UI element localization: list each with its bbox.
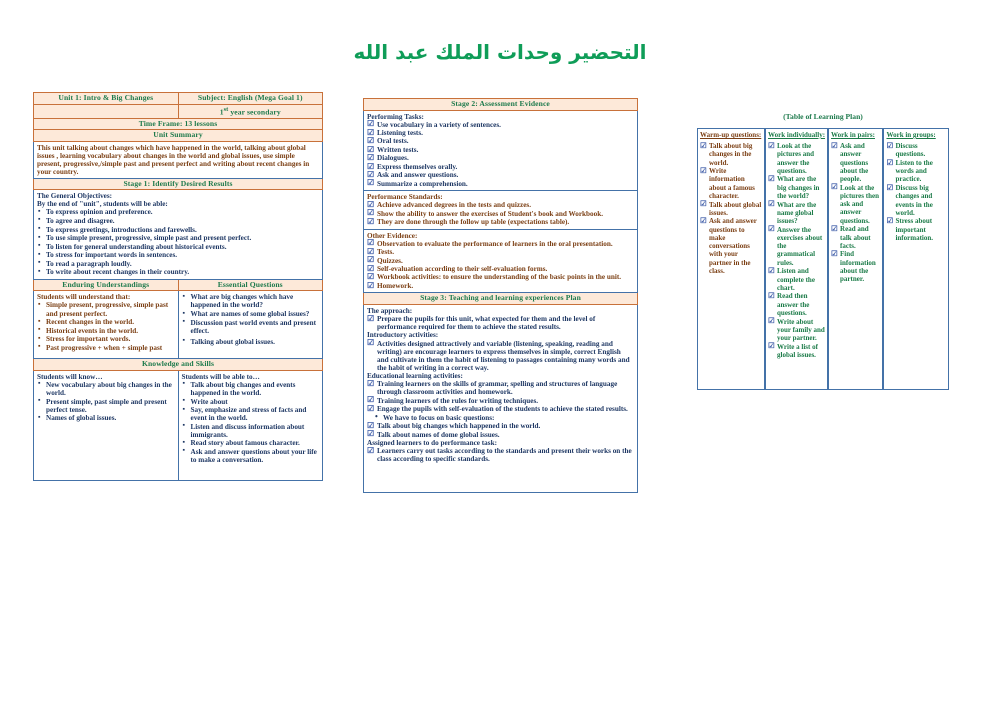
cell-unit-summary-text: This unit talking about changes which ha… [34, 141, 323, 178]
cell-knowledge-header: Knowledge and Skills [34, 359, 323, 371]
edu-list: Training learners on the skills of gramm… [367, 380, 634, 413]
able-list: Talk about big changes and events happen… [182, 381, 320, 464]
unit-plan-table: Unit 1: Intro & Big Changes Subject: Eng… [33, 92, 323, 481]
table-row: Students will understand that: Simple pr… [34, 291, 323, 359]
list-item: Present simple, past simple and present … [37, 398, 175, 414]
document-page: التحضير وحدات الملك عبد الله Unit 1: Int… [0, 0, 1000, 707]
list-item: Prepare the pupils for this unit, what e… [367, 315, 634, 331]
list-item: Discuss questions. [886, 142, 946, 159]
col-body-individual: Look at the pictures and answer the ques… [765, 140, 828, 390]
page-title: التحضير وحدات الملك عبد الله [0, 40, 1000, 64]
list-item: Read then answer the questions. [768, 292, 825, 317]
edu-sub-list: We have to focus on basic questions: [367, 414, 634, 422]
list-item: Stress about important information. [886, 217, 946, 242]
enduring-lead: Students will understand that: [37, 293, 175, 301]
table-header-row: Warm-up questions: Work individually: Wo… [697, 128, 949, 140]
approach-list: Prepare the pupils for this unit, what e… [367, 315, 634, 331]
list-item: Find information about the partner. [831, 250, 880, 283]
assessment-plan-table: Stage 2: Assessment Evidence Performing … [363, 98, 638, 493]
list-item: Quizzes. [367, 257, 634, 265]
list-item: Write about your family and your partner… [768, 318, 825, 343]
list-item: Names of global issues. [37, 414, 175, 422]
intro-list: Activities designed attractively and var… [367, 340, 634, 372]
list-item: What are the name global issues? [768, 201, 825, 226]
cell-time-frame: Time Frame: 13 lessons [34, 118, 323, 130]
intro-lead: Introductory activities: [367, 331, 634, 339]
warmup-list: Talk about big changes in the world. Wri… [700, 142, 762, 275]
performing-list: Use vocabulary in a variety of sentences… [367, 121, 634, 188]
list-item: Show the ability to answer the exercises… [367, 210, 634, 218]
learning-col-label: Warm-up questions: [700, 131, 761, 139]
cell-blank [34, 104, 179, 118]
cell-stage2-header: Stage 2: Assessment Evidence [364, 99, 638, 111]
individual-list: Look at the pictures and answer the ques… [768, 142, 825, 359]
list-item: To express greetings, introductions and … [37, 226, 319, 234]
objectives-subtitle: By the end of "unit", students will be a… [37, 200, 319, 208]
know-list: New vocabulary about big changes in the … [37, 381, 175, 422]
list-item: Discussion past world events and present… [182, 319, 320, 335]
list-item: What are the big changes in the world? [768, 175, 825, 200]
list-item: Write information about a famous charact… [700, 167, 762, 200]
list-item: Listen and complete the chart. [768, 267, 825, 292]
list-item: Engage the pupils with self-evaluation o… [367, 405, 634, 413]
list-item: Achieve advanced degrees in the tests an… [367, 201, 634, 209]
list-item: Activities designed attractively and var… [367, 340, 634, 372]
list-item: Oral tests. [367, 137, 634, 145]
know-lead: Students will know… [37, 373, 175, 381]
list-item: Read and talk about facts. [831, 225, 880, 250]
col-body-warmup: Talk about big changes in the world. Wri… [697, 140, 765, 390]
col-body-groups: Discuss questions. Listen to the words a… [883, 140, 949, 390]
able-lead: Students will be able to… [182, 373, 320, 381]
edu-tail-list: Talk about big changes which happened in… [367, 422, 634, 439]
list-item: Learners carry out tasks according to th… [367, 447, 634, 463]
other-list: Observation to evaluate the performance … [367, 240, 634, 290]
enduring-list: Simple present, progressive, simple past… [37, 301, 175, 351]
cell-performing-tasks: Performing Tasks: Use vocabulary in a va… [364, 110, 638, 191]
learning-col-label: Work in pairs: [831, 131, 875, 139]
list-item: To read a paragraph loudly. [37, 260, 319, 268]
list-item: Self-evaluation according to their self-… [367, 265, 634, 273]
cell-stage3-header: Stage 3: Teaching and learning experienc… [364, 293, 638, 305]
objectives-list: To express opinion and preference. To ag… [37, 208, 319, 276]
list-item: Talk about big changes in the world. [700, 142, 762, 167]
list-item: Listen to the words and practice. [886, 159, 946, 184]
table-row: The approach: Prepare the pupils for thi… [364, 304, 638, 492]
cell-objectives: The General Objectives: By the end of "u… [34, 190, 323, 280]
cell-able-body: Students will be able to… Talk about big… [178, 370, 323, 480]
cell-performance-standards: Performance Standards: Achieve advanced … [364, 191, 638, 229]
list-item: To express opinion and preference. [37, 208, 319, 216]
list-item: Answer the exercises about the grammatic… [768, 226, 825, 267]
cell-teaching-plan: The approach: Prepare the pupils for thi… [364, 304, 638, 492]
cell-enduring-header: Enduring Understandings [34, 279, 179, 291]
list-item: Tests. [367, 248, 634, 256]
list-item: Use vocabulary in a variety of sentences… [367, 121, 634, 129]
learning-plan-section: (Table of Learning Plan) Warm-up questio… [697, 112, 949, 390]
table-row: Unit Summary [34, 130, 323, 142]
list-item: Express themselves orally. [367, 163, 634, 171]
cell-year: 1st year secondary [178, 104, 323, 118]
list-item: Training learners of the rules for writi… [367, 397, 634, 405]
list-item: Stress for important words. [37, 335, 175, 343]
table-row: Stage 2: Assessment Evidence [364, 99, 638, 111]
table-row: Other Evidence: Observation to evaluate … [364, 229, 638, 293]
list-item: Written tests. [367, 146, 634, 154]
learning-plan-table: Warm-up questions: Work individually: Wo… [697, 128, 949, 390]
list-item: Write a list of global issues. [768, 343, 825, 360]
other-lead: Other Evidence: [367, 232, 634, 240]
col-header-pairs: Work in pairs: [828, 128, 883, 140]
col-header-individual: Work individually: [765, 128, 828, 140]
list-item: Training learners on the skills of gramm… [367, 380, 634, 396]
list-item: Read story about famous character. [182, 439, 320, 447]
cell-other-evidence: Other Evidence: Observation to evaluate … [364, 229, 638, 293]
list-item: Talk about big changes and events happen… [182, 381, 320, 397]
list-item: Talking about global issues. [182, 338, 320, 346]
list-item: Listen and discuss information about imm… [182, 423, 320, 439]
cell-subject: Subject: English (Mega Goal 1) [178, 93, 323, 105]
list-item: To listen for general understanding abou… [37, 243, 319, 251]
list-item: What are names of some global issues? [182, 310, 320, 318]
list-item: Summarize a comprehension. [367, 180, 634, 188]
list-item: Talk about names of dome global issues. [367, 431, 634, 439]
list-item: Listening tests. [367, 129, 634, 137]
list-item: Past progressive + when + simple past [37, 344, 175, 352]
table-row: Stage 1: Identify Desired Results [34, 178, 323, 190]
list-item: Dialogues. [367, 154, 634, 162]
list-item: Talk about global issues. [700, 201, 762, 218]
list-item: We have to focus on basic questions: [367, 414, 634, 422]
standards-list: Achieve advanced degrees in the tests an… [367, 201, 634, 226]
standards-lead: Performance Standards: [367, 193, 634, 201]
list-item: Ask and answer questions. [367, 171, 634, 179]
cell-know-body: Students will know… New vocabulary about… [34, 370, 179, 480]
list-item: New vocabulary about big changes in the … [37, 381, 175, 397]
list-item: Simple present, progressive, simple past… [37, 301, 175, 317]
table-row: Time Frame: 13 lessons [34, 118, 323, 130]
performing-lead: Performing Tasks: [367, 113, 634, 121]
list-item: Workbook activities: to ensure the under… [367, 273, 634, 281]
list-item: Recent changes in the world. [37, 318, 175, 326]
list-item: Homework. [367, 282, 634, 290]
list-item: To stress for important words in sentenc… [37, 251, 319, 259]
list-item: They are done through the follow up tabl… [367, 218, 634, 226]
list-item: Discuss big changes and events in the wo… [886, 184, 946, 217]
objectives-title: The General Objectives: [37, 192, 319, 200]
approach-lead: The approach: [367, 307, 634, 315]
list-item: Look at the pictures and answer the ques… [768, 142, 825, 175]
assigned-list: Learners carry out tasks according to th… [367, 447, 634, 463]
pairs-list: Ask and answer questions about the peopl… [831, 142, 880, 283]
learning-col-label: Work individually: [768, 131, 825, 139]
list-item: Talk about big changes which happened in… [367, 422, 634, 430]
table-row: This unit talking about changes which ha… [34, 141, 323, 178]
col-header-warmup: Warm-up questions: [697, 128, 765, 140]
col-body-pairs: Ask and answer questions about the peopl… [828, 140, 883, 390]
groups-list: Discuss questions. Listen to the words a… [886, 142, 946, 242]
table-row: Enduring Understandings Essential Questi… [34, 279, 323, 291]
list-item: Ask and answer questions to make convers… [700, 217, 762, 275]
learning-plan-caption: (Table of Learning Plan) [697, 112, 949, 121]
table-row: 1st year secondary [34, 104, 323, 118]
cell-essential-body: What are big changes which have happened… [178, 291, 323, 359]
essential-list: What are big changes which have happened… [182, 293, 320, 345]
list-item: Historical events in the world. [37, 327, 175, 335]
cell-unit-summary-header: Unit Summary [34, 130, 323, 142]
table-row: Unit 1: Intro & Big Changes Subject: Eng… [34, 93, 323, 105]
list-item: To use simple present, progressive, simp… [37, 234, 319, 242]
edu-lead: Educational learning activities: [367, 372, 634, 380]
table-row: Stage 3: Teaching and learning experienc… [364, 293, 638, 305]
list-item: Write about [182, 398, 320, 406]
cell-unit: Unit 1: Intro & Big Changes [34, 93, 179, 105]
list-item: Ask and answer questions about the peopl… [831, 142, 880, 183]
list-item: To agree and disagree. [37, 217, 319, 225]
table-row: Performing Tasks: Use vocabulary in a va… [364, 110, 638, 191]
table-row: Students will know… New vocabulary about… [34, 370, 323, 480]
cell-stage1-header: Stage 1: Identify Desired Results [34, 178, 323, 190]
table-row: Knowledge and Skills [34, 359, 323, 371]
assigned-lead: Assigned learners to do performance task… [367, 439, 634, 447]
list-item: Look at the pictures then ask and answer… [831, 184, 880, 225]
cell-enduring-body: Students will understand that: Simple pr… [34, 291, 179, 359]
col-header-groups: Work in groups: [883, 128, 949, 140]
learning-col-label: Work in groups: [886, 131, 935, 139]
list-item: To write about recent changes in their c… [37, 268, 319, 276]
list-item: What are big changes which have happened… [182, 293, 320, 309]
list-item: Say, emphasize and stress of facts and e… [182, 406, 320, 422]
table-row: The General Objectives: By the end of "u… [34, 190, 323, 280]
list-item: Observation to evaluate the performance … [367, 240, 634, 248]
list-item: Ask and answer questions about your life… [182, 448, 320, 464]
table-row: Talk about big changes in the world. Wri… [697, 140, 949, 390]
cell-essential-header: Essential Questions [178, 279, 323, 291]
table-row: Performance Standards: Achieve advanced … [364, 191, 638, 229]
